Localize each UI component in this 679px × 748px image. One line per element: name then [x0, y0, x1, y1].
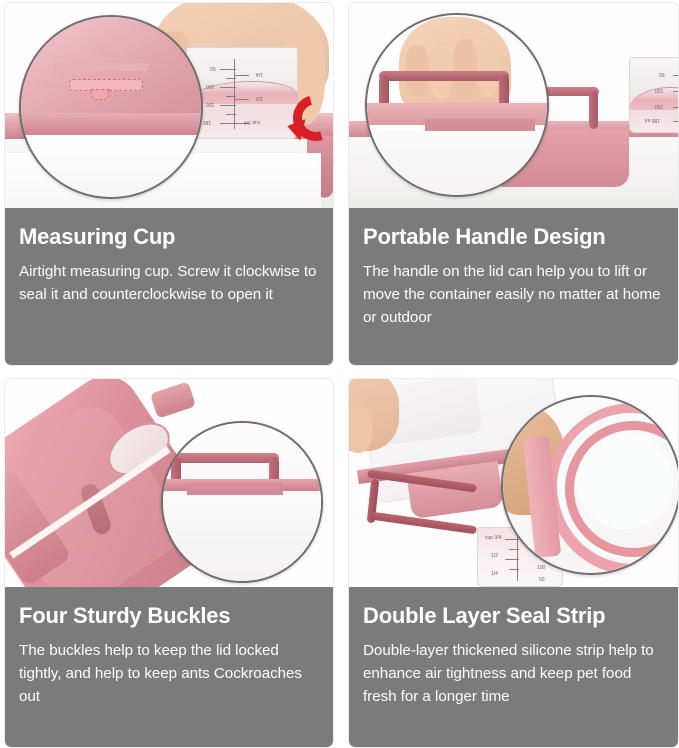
feature-card-portable-handle[interactable]: 50 100 150 180 ml [348, 2, 679, 366]
card-description: The handle on the lid can help you to li… [363, 260, 664, 329]
cup-fraction-label: cup 3/4 [485, 535, 501, 541]
cup-ml-label: 150 [655, 103, 663, 109]
magnifier-lens-buckle [161, 421, 323, 583]
measuring-cup: 50 100 150 180 ml [629, 57, 678, 133]
carry-handle-bar-zoom [379, 71, 509, 81]
lens-container-wall [365, 131, 549, 197]
feature-cell-four-sturdy-buckles: Four Sturdy Buckles The buckles help to … [0, 374, 338, 748]
cup-fraction-label: 1/4 [256, 71, 263, 77]
card-title: Portable Handle Design [363, 224, 664, 250]
finger [453, 39, 477, 99]
lens-container-wall [161, 495, 323, 583]
caption-measuring-cup: Measuring Cup Airtight measuring cup. Sc… [5, 208, 333, 365]
lens-lid-ridge [53, 63, 149, 71]
feature-card-four-sturdy-buckles[interactable]: Four Sturdy Buckles The buckles help to … [4, 378, 334, 748]
cup-tick [220, 105, 236, 106]
cup-ml-label: 180 ml [645, 117, 660, 123]
product-photo-portable-handle: 50 100 150 180 ml [349, 3, 678, 208]
finger [429, 41, 453, 99]
magnifier-lens-seal-strip [501, 395, 678, 575]
cup-tick [220, 123, 236, 124]
cup-ml-label: 150 [206, 101, 214, 107]
cup-ml-label: 100 [206, 83, 214, 89]
caption-double-layer-seal: Double Layer Seal Strip Double-layer thi… [349, 587, 678, 747]
finger-thumb [349, 405, 373, 453]
cup-tick [673, 121, 678, 122]
cup-ml-label: 50 [539, 577, 545, 583]
card-description: Double-layer thickened silicone strip he… [363, 639, 664, 708]
cup-tick [673, 91, 678, 92]
cup-tick [220, 87, 236, 88]
cup-tick [235, 75, 249, 76]
card-title: Four Sturdy Buckles [19, 603, 319, 629]
card-description: Airtight measuring cup. Screw it clockwi… [19, 260, 319, 306]
cup-tick [226, 96, 236, 97]
product-photo-measuring-cup: 50 100 150 180 ml 1/4 1/2 cup 3/4 [5, 3, 333, 208]
cup-tick [235, 99, 249, 100]
cup-fraction-label: 1/2 [491, 553, 498, 559]
lens-rim-band [19, 113, 203, 135]
seal-ring-core [577, 433, 673, 529]
product-photo-buckles [5, 379, 333, 587]
cup-fraction-label: 1/2 [256, 95, 263, 101]
card-title: Double Layer Seal Strip [363, 603, 664, 629]
lens-buckle-wire [171, 453, 279, 463]
lens-container-wall [19, 135, 203, 199]
cup-tick [673, 75, 678, 76]
cup-tick [220, 69, 236, 70]
card-description: The buckles help to keep the lid locked … [19, 639, 319, 708]
cup-fraction-label: 1/4 [491, 571, 498, 577]
cup-ml-label: 100 [655, 87, 663, 93]
cup-tick [673, 107, 678, 108]
feature-card-double-layer-seal[interactable]: cup 3/4 1/2 1/4 180 ml 150 100 50 [348, 378, 679, 748]
card-title: Measuring Cup [19, 224, 319, 250]
measuring-cup: 50 100 150 180 ml 1/4 1/2 cup 3/4 [186, 47, 298, 139]
feature-card-measuring-cup[interactable]: 50 100 150 180 ml 1/4 1/2 cup 3/4 [4, 2, 334, 366]
cup-ml-label: 50 [210, 65, 216, 71]
feature-grid: 50 100 150 180 ml 1/4 1/2 cup 3/4 [0, 0, 679, 748]
cup-tick [226, 114, 236, 115]
cup-ml-label: 50 [659, 71, 665, 77]
carry-handle-post-right [589, 91, 598, 129]
caption-portable-handle: Portable Handle Design The handle on the… [349, 208, 678, 365]
lens-seal-notch [91, 89, 109, 100]
feature-cell-double-layer-seal: cup 3/4 1/2 1/4 180 ml 150 100 50 [338, 374, 679, 748]
magnifier-lens-cup-seal [19, 15, 203, 199]
cup-fraction-label: cup 3/4 [244, 119, 260, 125]
feature-cell-portable-handle: 50 100 150 180 ml [338, 0, 679, 374]
cup-tick [226, 78, 236, 79]
product-photo-seal-strip: cup 3/4 1/2 1/4 180 ml 150 100 50 [349, 379, 678, 587]
rotation-arrow-icon [293, 95, 333, 141]
feature-cell-measuring-cup: 50 100 150 180 ml 1/4 1/2 cup 3/4 [0, 0, 338, 374]
caption-four-sturdy-buckles: Four Sturdy Buckles The buckles help to … [5, 587, 333, 747]
buckle-top [150, 381, 196, 418]
magnifier-lens-handle-grip [365, 13, 549, 197]
